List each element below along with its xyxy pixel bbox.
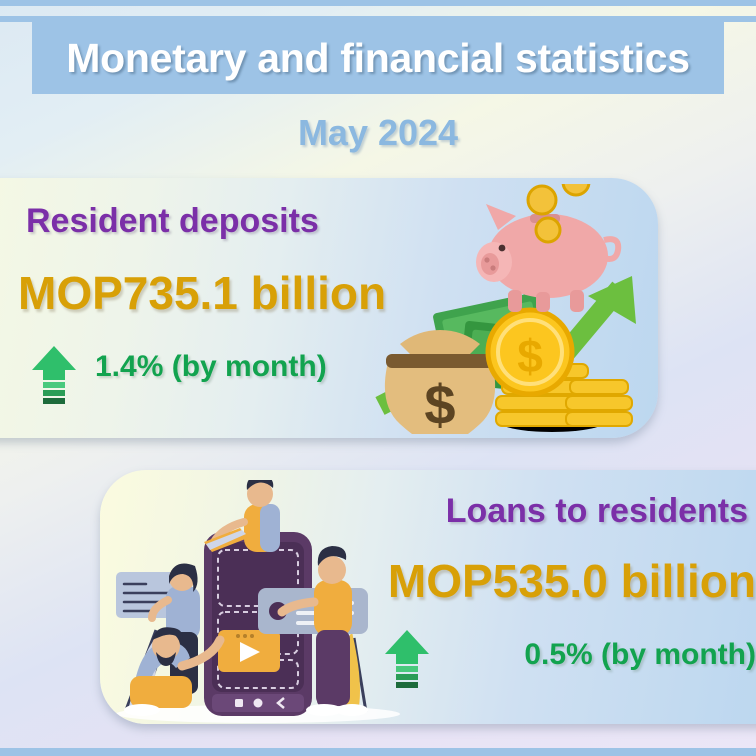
up-arrow-icon [385,630,429,697]
piggy-bank-money-growth-icon: $ $ [370,184,640,438]
svg-text:$: $ [517,330,543,382]
card-label-resident-deposits: Resident deposits [26,202,319,241]
card-change-loans-to-residents: 0.5% (by month) [524,638,756,672]
page-subtitle-period: May 2024 [0,112,756,154]
people-mobile-phone-icon [108,480,408,724]
card-change-resident-deposits: 1.4% (by month) [95,350,327,384]
card-value-loans-to-residents: MOP535.0 billion [388,554,756,608]
top-accent-strip-upper [0,0,756,6]
up-arrow-icon [32,346,76,413]
card-loans-to-residents: Loans to residents MOP535.0 billion 0.5%… [100,470,756,724]
infographic-poster: Monetary and financial statistics May 20… [0,0,756,756]
svg-text:$: $ [424,373,455,434]
bottom-accent-strip [0,748,756,756]
page-title: Monetary and financial statistics [32,22,724,94]
card-value-resident-deposits: MOP735.1 billion [18,266,386,320]
card-resident-deposits: $ $ [0,178,658,438]
card-label-loans-to-residents: Loans to residents [446,492,748,531]
